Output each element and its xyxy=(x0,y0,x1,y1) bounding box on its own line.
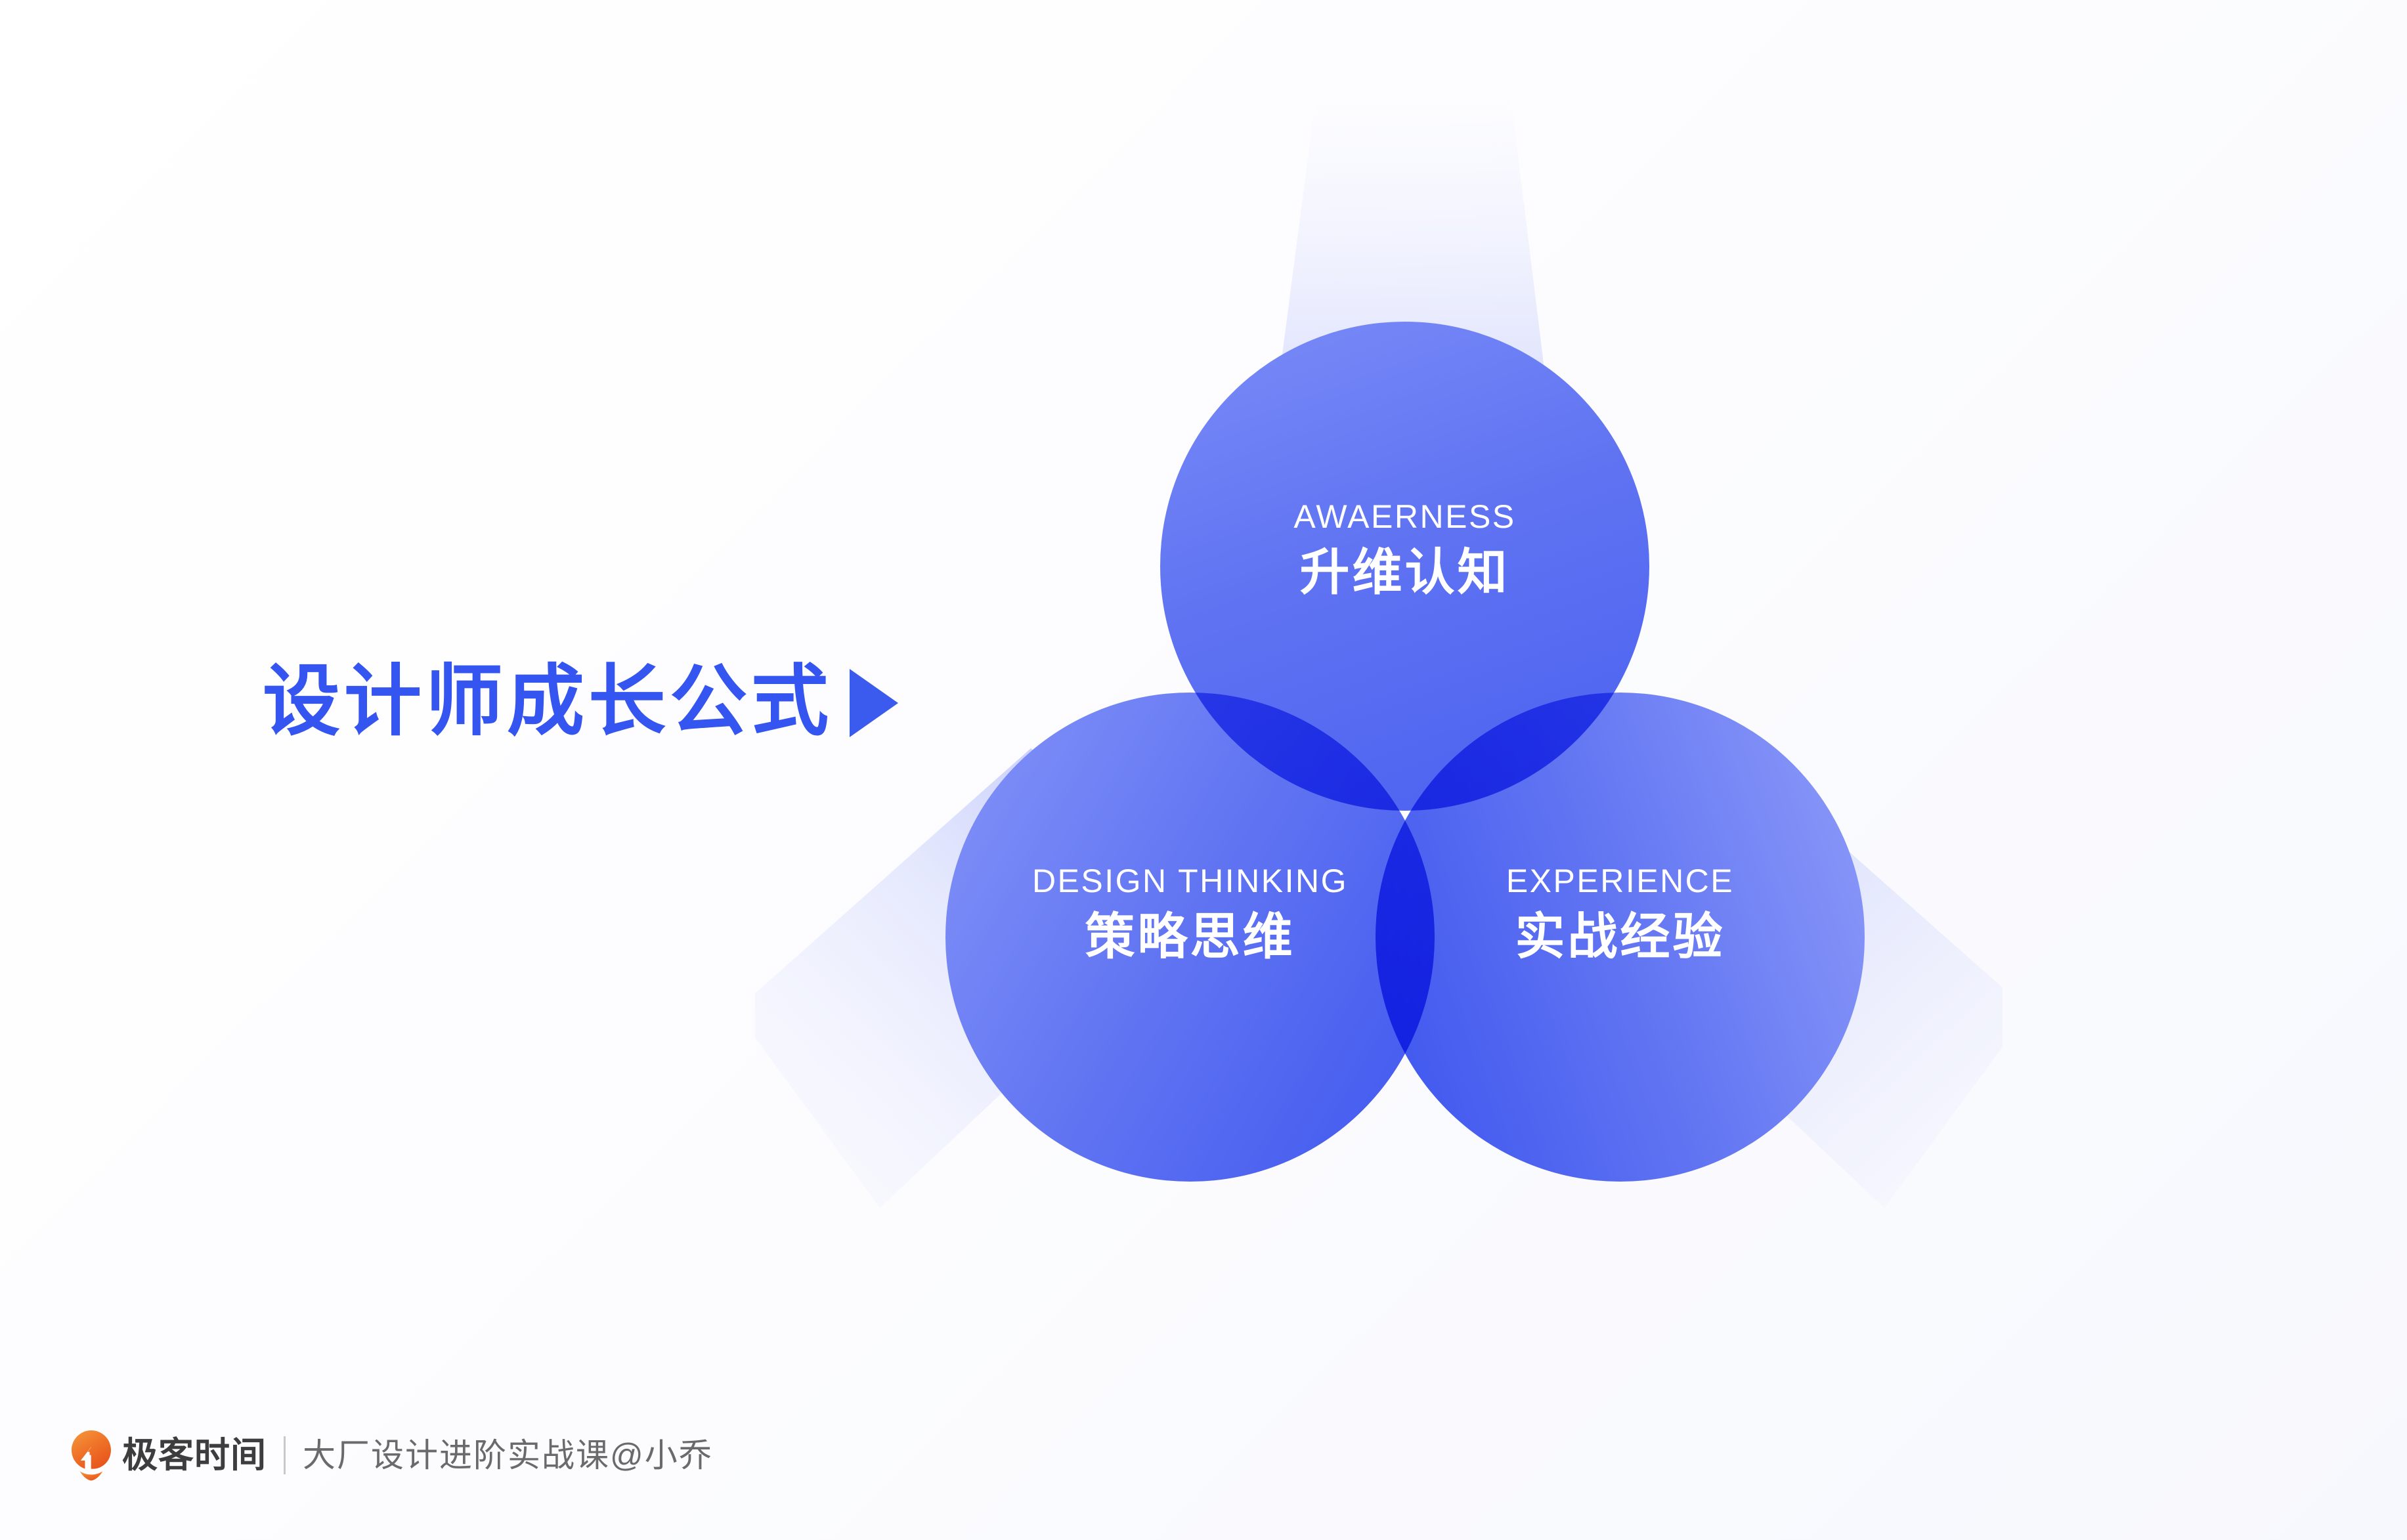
venn-circles xyxy=(755,98,2003,1346)
venn-circle-design-thinking[interactable] xyxy=(945,693,1435,1182)
footer-branding: 极客时间 大厂设计进阶实战课@小乔 xyxy=(71,1430,713,1481)
brand-name: 极客时间 xyxy=(122,1438,267,1473)
venn-circle-experience[interactable] xyxy=(1376,693,1865,1182)
slide-canvas: 设计师成长公式 xyxy=(0,0,2407,1540)
venn-diagram: AWAERNESS 升维认知 DESIGN THINKING 策略思维 EXPE… xyxy=(755,98,2003,1346)
geekbang-pin-logo-icon xyxy=(71,1430,112,1481)
page-title: 设计师成长公式 xyxy=(263,663,833,740)
footer-divider xyxy=(284,1436,286,1474)
footer-subtitle: 大厂设计进阶实战课@小乔 xyxy=(303,1439,713,1472)
